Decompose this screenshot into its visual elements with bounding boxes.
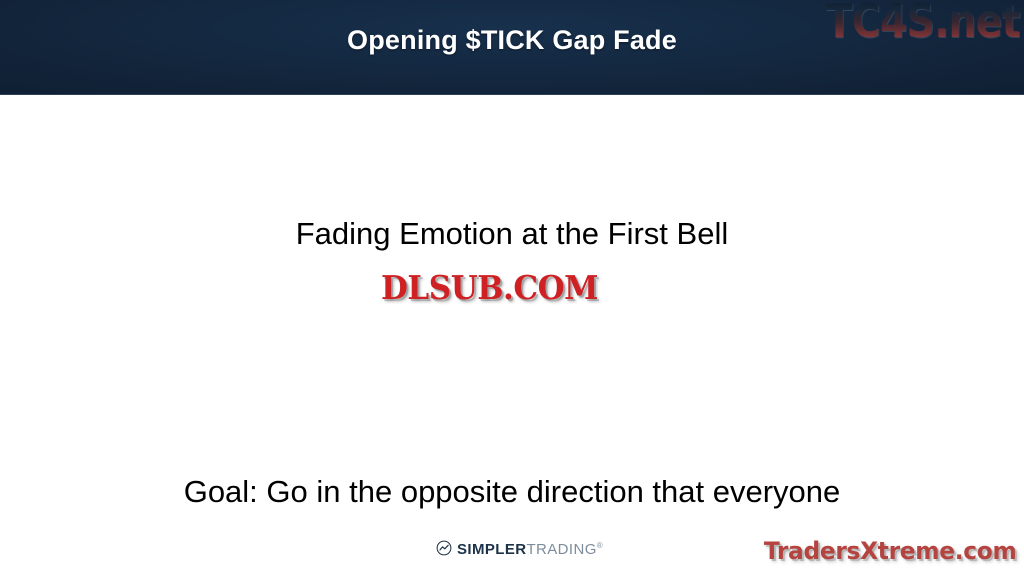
- wordmark-trading: TRADING: [526, 541, 596, 558]
- slide-body: Fading Emotion at the First Bell Goal: G…: [0, 95, 1024, 576]
- chart-circle-icon: [436, 540, 452, 556]
- simpler-trading-logo: SIMPLERTRADING®: [436, 538, 603, 558]
- body-line-2: Goal: Go in the opposite direction that …: [112, 470, 912, 513]
- wordmark-simpler: SIMPLER: [457, 541, 526, 558]
- presentation-slide: Opening $TICK Gap Fade TC4S.net Fading E…: [0, 0, 1024, 576]
- slide-title: Opening $TICK Gap Fade: [0, 0, 1024, 95]
- body-line-1: Fading Emotion at the First Bell: [112, 212, 912, 255]
- simpler-trading-wordmark: SIMPLERTRADING®: [457, 538, 603, 558]
- registered-mark: ®: [597, 541, 603, 550]
- slide-body-text: Fading Emotion at the First Bell Goal: G…: [112, 126, 912, 576]
- body-line-spacer-1: [112, 341, 912, 384]
- slide-header-bar: Opening $TICK Gap Fade TC4S.net: [0, 0, 1024, 95]
